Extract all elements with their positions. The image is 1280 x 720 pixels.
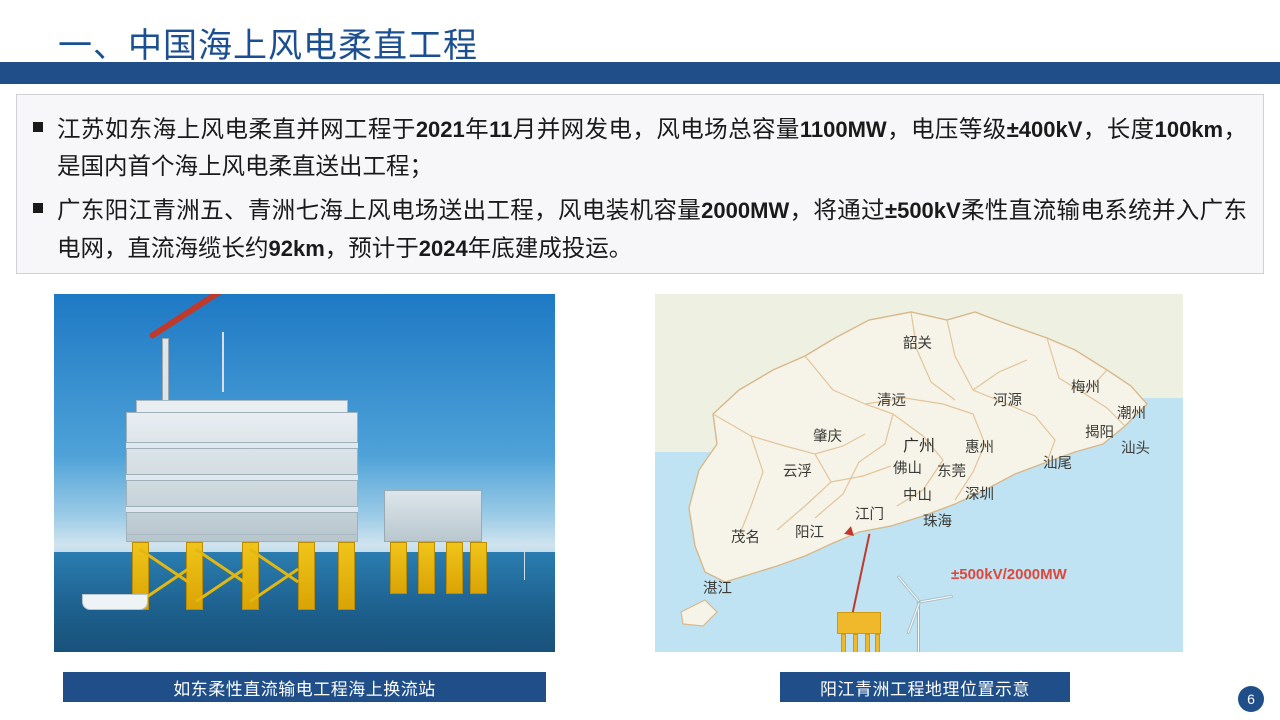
platform-band (126, 442, 358, 449)
text-run: ，长度 (1082, 117, 1154, 143)
text-run: 月并网发电，风电场总容量 (512, 117, 799, 143)
jacket-foundation (126, 542, 358, 610)
brace (249, 548, 299, 583)
offshore-converter-station-photo (54, 294, 555, 652)
platform-band (126, 474, 358, 481)
emphasised-value: 1100MW (800, 117, 887, 142)
content-text-box: 江苏如东海上风电柔直并网工程于2021年11月并网发电，风电场总容量1100MW… (16, 94, 1264, 274)
map-city-label: 茂名 (731, 526, 760, 547)
bullet-item: 广东阳江青洲五、青洲七海上风电场送出工程，风电装机容量2000MW，将通过±50… (33, 192, 1263, 268)
service-boat (82, 594, 148, 610)
jacket-leg (446, 542, 463, 594)
square-bullet-icon (33, 122, 43, 132)
emphasised-value: 2000MW (701, 198, 789, 223)
text-run: 年 (465, 117, 489, 143)
map-city-label: 东莞 (937, 460, 966, 481)
map-city-label: 惠州 (965, 436, 994, 457)
map-city-label: 佛山 (893, 457, 922, 478)
emphasised-value: 100km (1155, 117, 1224, 142)
bullet-paragraph-2: 广东阳江青洲五、青洲七海上风电场送出工程，风电装机容量2000MW，将通过±50… (57, 192, 1247, 268)
right-figure-caption: 阳江青洲工程地理位置示意 (780, 672, 1070, 702)
platform-deck-line (126, 534, 358, 535)
brace (195, 567, 246, 603)
title-divider-bar (0, 62, 1280, 84)
jacket-bracing (126, 542, 358, 610)
map-city-label: 湛江 (703, 577, 732, 598)
page-number-badge: 6 (1238, 686, 1264, 712)
platform-leg-icon (875, 634, 880, 652)
secondary-platform-legs (390, 542, 478, 594)
route-arrow-head-icon (844, 525, 856, 536)
map-city-label: 韶关 (903, 332, 932, 353)
map-city-label: 阳江 (795, 521, 824, 542)
text-run: ，预计于 (325, 236, 419, 262)
brace (139, 548, 190, 584)
map-city-label: 河源 (993, 389, 1022, 410)
bullet-paragraph-1: 江苏如东海上风电柔直并网工程于2021年11月并网发电，风电场总容量1100MW… (57, 111, 1247, 186)
jacket-leg (470, 542, 487, 594)
offshore-platform-icon (837, 612, 881, 634)
text-run: 广东阳江青洲五、青洲七海上风电场送出工程，风电装机容量 (57, 198, 701, 224)
map-city-label: 江门 (855, 503, 884, 524)
guangdong-location-map: 韶关梅州清远河源潮州肇庆广州惠州揭阳汕头云浮佛山东莞汕尾深圳中山江门珠海茂名阳江… (655, 294, 1183, 652)
square-bullet-icon (33, 203, 43, 213)
map-city-label: 清远 (877, 389, 906, 410)
jacket-leg (418, 542, 435, 594)
text-run: ，电压等级 (887, 117, 1007, 143)
emphasised-value: 2021 (416, 117, 465, 142)
page-title: 一、中国海上风电柔直工程 (58, 18, 478, 67)
emphasised-value: 92km (269, 236, 325, 261)
bullet-item: 江苏如东海上风电柔直并网工程于2021年11月并网发电，风电场总容量1100MW… (33, 111, 1263, 186)
platform-leg-icon (865, 634, 870, 652)
map-city-label: 汕尾 (1043, 452, 1072, 473)
map-city-label: 肇庆 (813, 425, 842, 446)
emphasised-value: ±500kV (885, 198, 961, 223)
emphasised-value: 2024 (419, 236, 468, 261)
map-city-label: 潮州 (1117, 402, 1146, 423)
map-city-label: 云浮 (783, 460, 812, 481)
emphasised-value: ±400kV (1007, 117, 1083, 142)
platform-leg-icon (853, 634, 858, 652)
map-city-label: 广州 (903, 432, 935, 456)
slide: 一、中国海上风电柔直工程 江苏如东海上风电柔直并网工程于2021年11月并网发电… (0, 0, 1280, 720)
left-figure-caption: 如东柔性直流输电工程海上换流站 (63, 672, 546, 702)
map-city-label: 中山 (903, 484, 932, 505)
platform-leg-icon (841, 634, 846, 652)
text-run: ，将通过 (789, 198, 885, 224)
map-city-label: 揭阳 (1085, 421, 1114, 442)
map-city-label: 珠海 (923, 510, 952, 531)
brace (195, 548, 246, 584)
brace (249, 568, 299, 603)
jacket-leg (390, 542, 407, 594)
secondary-platform (384, 490, 482, 542)
platform-band (126, 506, 358, 513)
text-run: 江苏如东海上风电柔直并网工程于 (57, 117, 416, 143)
map-city-label: 深圳 (965, 483, 994, 504)
distant-turbine-icon (524, 546, 525, 580)
crane-hook-line (222, 332, 224, 392)
map-annotation-rating: ±500kV/2000MW (951, 566, 1067, 583)
map-city-label: 汕头 (1121, 437, 1150, 458)
emphasised-value: 11 (489, 117, 512, 142)
text-run: 年底建成投运。 (468, 236, 633, 262)
map-city-label: 梅州 (1071, 376, 1100, 397)
